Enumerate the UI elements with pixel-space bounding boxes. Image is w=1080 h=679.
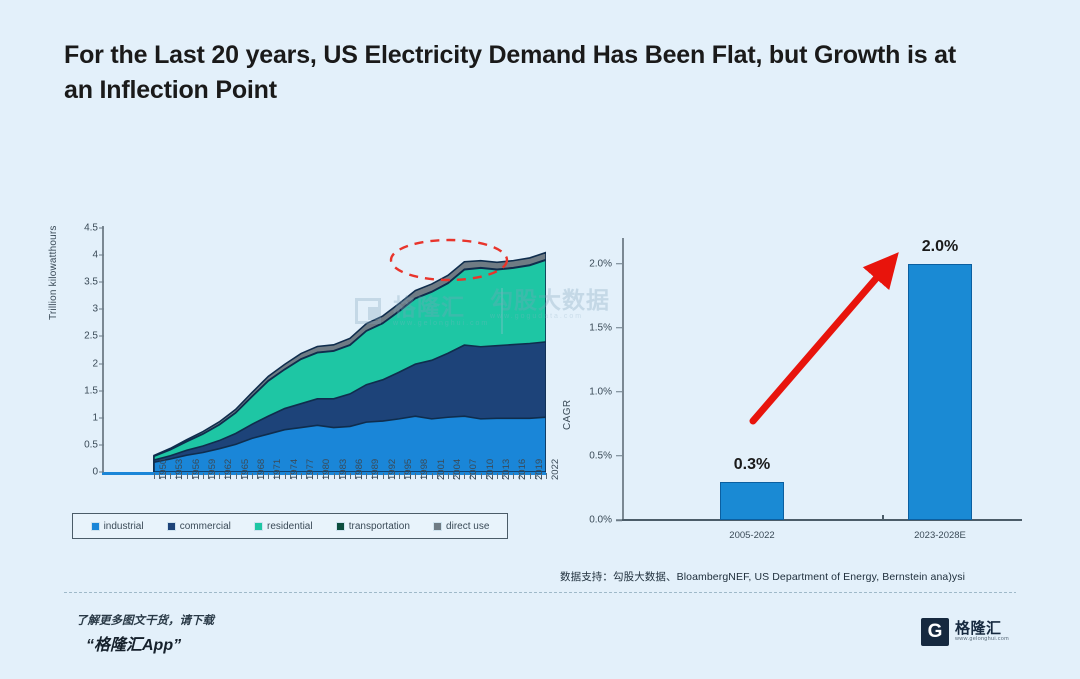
area-y-tick [99,417,104,418]
area-x-tick-label: 1965 [240,459,251,480]
bar-y-tick [616,263,622,265]
area-x-tick [187,473,188,479]
bar-category-label: 2023-2028E [914,530,966,541]
area-x-tick-label: 1971 [272,459,283,480]
bar-y-tick-label: 0.0% [566,515,612,526]
bar-y-tick [616,455,622,457]
legend-label: direct use [446,521,489,532]
legend-label: transportation [349,521,410,532]
area-y-tick-label: 3 [64,304,98,315]
area-x-tick-label: 2010 [485,459,496,480]
area-x-tick [170,473,171,479]
area-chart-svg [104,228,546,472]
area-y-tick [99,390,104,391]
area-x-tick [366,473,367,479]
area-chart-y-tick-labels: 00.511.522.533.544.5 [70,228,104,472]
source-note: 数据支持：勾股大数据、BloambergNEF, US Department o… [560,569,965,584]
area-x-tick [301,473,302,479]
area-x-tick-label: 1962 [223,459,234,480]
area-x-tick-label: 2004 [452,459,463,480]
area-y-tick [99,363,104,364]
area-x-tick [252,473,253,479]
area-x-tick-label: 2016 [517,459,528,480]
area-y-tick-label: 3.5 [64,277,98,288]
bar-chart: CAGR 0.0%0.5%1.0%1.5%2.0% 0.3%2005-20222… [560,234,1030,544]
bar-y-tick-label: 1.5% [566,322,612,333]
area-x-tick-label: 2001 [436,459,447,480]
legend-item-industrial[interactable]: industrial [91,521,144,532]
area-x-tick-label: 2007 [468,459,479,480]
legend-label: commercial [180,521,231,532]
area-x-tick [399,473,400,479]
area-chart-plot [104,228,546,472]
area-x-tick [285,473,286,479]
gelonghui-logo-icon: G [921,618,949,646]
area-x-tick-label: 1956 [191,459,202,480]
area-y-tick-label: 0 [64,467,98,478]
footer-divider [64,592,1016,593]
area-y-tick [99,472,104,473]
bar-y-tick-label: 2.0% [566,258,612,269]
bar-y-tick [616,327,622,329]
area-x-tick [481,473,482,479]
area-x-tick [334,473,335,479]
area-x-tick-label: 1959 [207,459,218,480]
legend-item-transportation[interactable]: transportation [336,521,410,532]
area-y-tick-label: 0.5 [64,439,98,450]
legend-swatch-icon [91,522,100,531]
area-y-tick-label: 2 [64,358,98,369]
area-chart: Trillion kilowatthours 00.511.522.533.54… [52,228,552,548]
bar-y-tick [616,519,622,521]
area-y-tick [99,309,104,310]
bar-value-label: 0.3% [734,456,770,474]
legend-item-residential[interactable]: residential [254,521,313,532]
area-x-tick [350,473,351,479]
area-y-tick [99,228,104,229]
area-x-tick-label: 2013 [501,459,512,480]
area-x-tick-label: 1995 [403,459,414,480]
area-x-tick-label: 1992 [387,459,398,480]
area-chart-y-axis-title: Trillion kilowatthours [48,225,59,320]
bar-chart-y-axis-title: CAGR [562,400,573,431]
area-y-tick [99,255,104,256]
area-x-tick [203,473,204,479]
footer-app-name: “格隆汇App” [86,631,181,655]
area-x-tick [219,473,220,479]
area-x-tick-label: 1953 [174,459,185,480]
area-y-tick-label: 2.5 [64,331,98,342]
legend-swatch-icon [336,522,345,531]
footer-promo-line1: 了解更多图文干货，请下载 [76,612,214,628]
bar-category-label: 2005-2022 [729,530,774,541]
area-x-tick-label: 1986 [354,459,365,480]
area-x-tick [383,473,384,479]
area-x-tick-label: 2019 [534,459,545,480]
area-x-tick-label: 1974 [289,459,300,480]
area-x-tick [513,473,514,479]
bar-chart-bars: 0.3%2005-20222.0%2023-2028E [622,238,1022,520]
bar-chart-y-tick-labels: 0.0%0.5%1.0%1.5%2.0% [574,234,620,520]
area-chart-legend[interactable]: industrialcommercialresidentialtransport… [72,513,508,539]
area-y-tick-label: 1 [64,412,98,423]
area-x-tick [448,473,449,479]
area-x-tick [497,473,498,479]
bar-y-tick-label: 0.5% [566,450,612,461]
area-x-tick [530,473,531,479]
legend-swatch-icon [433,522,442,531]
area-x-tick-label: 1989 [370,459,381,480]
area-x-tick-label: 1980 [321,459,332,480]
area-x-tick-label: 1983 [338,459,349,480]
logo-url: www.gelonghui.com [955,637,1009,643]
legend-label: residential [267,521,313,532]
area-x-tick-label: 1950 [158,459,169,480]
area-x-tick [268,473,269,479]
legend-item-direct-use[interactable]: direct use [433,521,489,532]
area-x-tick-label: 1998 [419,459,430,480]
area-x-tick [415,473,416,479]
bar-2005-2022[interactable] [720,482,784,520]
bar-y-tick-label: 1.0% [566,386,612,397]
brand-logo[interactable]: G 格隆汇 www.gelonghui.com [921,612,1021,652]
area-x-tick-label: 1977 [305,459,316,480]
area-y-tick-label: 1.5 [64,385,98,396]
bar-value-label: 2.0% [922,238,958,256]
area-y-tick-label: 4.5 [64,223,98,234]
area-x-tick [546,473,547,479]
bar-y-tick [616,391,622,393]
area-y-tick [99,282,104,283]
area-x-tick-label: 1968 [256,459,267,480]
slide-root: For the Last 20 years, US Electricity De… [0,0,1080,679]
area-x-tick [464,473,465,479]
area-x-tick [317,473,318,479]
page-title: For the Last 20 years, US Electricity De… [64,38,964,107]
area-x-tick [154,473,155,479]
legend-item-commercial[interactable]: commercial [167,521,231,532]
logo-name: 格隆汇 [955,621,1009,637]
legend-label: industrial [104,521,144,532]
area-x-tick [236,473,237,479]
area-y-tick-label: 4 [64,250,98,261]
bar-2023-2028E[interactable] [908,264,972,520]
area-y-tick [99,336,104,337]
area-x-tick [432,473,433,479]
area-y-tick [99,444,104,445]
legend-swatch-icon [254,522,263,531]
legend-swatch-icon [167,522,176,531]
